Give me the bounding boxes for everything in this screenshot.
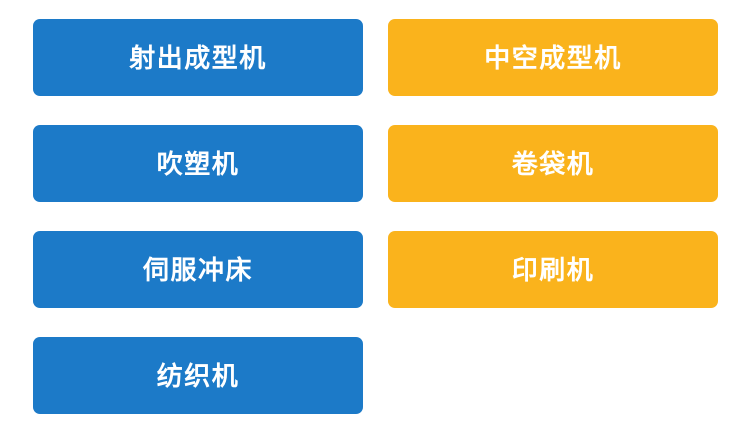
machine-category-button-grid: 射出成型机 中空成型机 吹塑机 卷袋机 伺服冲床 印刷机 纺织机 bbox=[0, 0, 750, 432]
machine-button-label: 纺织机 bbox=[157, 363, 240, 389]
machine-button-bag-rolling[interactable]: 卷袋机 bbox=[388, 125, 718, 202]
machine-button-printing[interactable]: 印刷机 bbox=[388, 231, 718, 308]
machine-button-servo-press[interactable]: 伺服冲床 bbox=[33, 231, 363, 308]
machine-button-label: 中空成型机 bbox=[484, 45, 622, 71]
machine-button-extrusion-blow[interactable]: 吹塑机 bbox=[33, 125, 363, 202]
machine-button-injection-molding[interactable]: 射出成型机 bbox=[33, 19, 363, 96]
machine-button-label: 射出成型机 bbox=[129, 45, 267, 71]
machine-button-label: 卷袋机 bbox=[512, 151, 595, 177]
machine-button-textile[interactable]: 纺织机 bbox=[33, 337, 363, 414]
machine-button-blow-molding[interactable]: 中空成型机 bbox=[388, 19, 718, 96]
machine-button-label: 印刷机 bbox=[512, 257, 595, 283]
machine-button-label: 伺服冲床 bbox=[143, 257, 253, 283]
machine-button-label: 吹塑机 bbox=[157, 151, 240, 177]
